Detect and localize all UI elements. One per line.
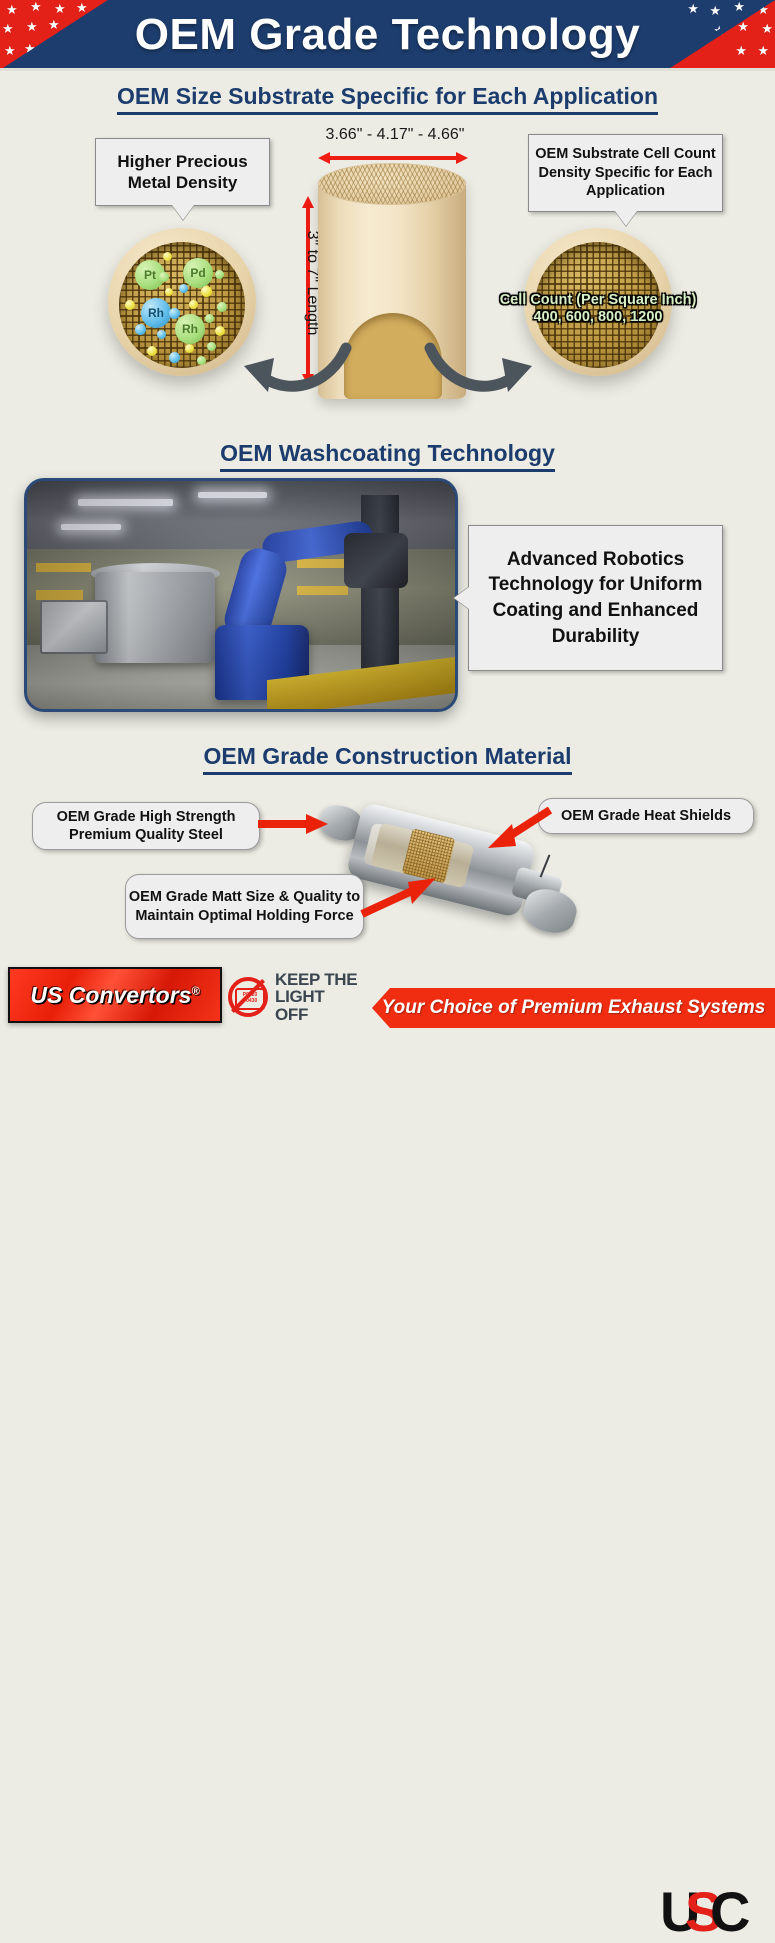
particle-dot bbox=[165, 288, 173, 296]
curved-arrow-right-icon bbox=[418, 338, 540, 404]
particle-dot bbox=[217, 302, 227, 312]
particle-dot bbox=[185, 344, 194, 353]
washcoating-robot-photo bbox=[24, 478, 458, 712]
callout-tail-icon bbox=[172, 205, 194, 220]
particle-dot bbox=[169, 352, 180, 363]
callout-text: Advanced Robotics Technology for Uniform… bbox=[469, 547, 722, 650]
cell-count-overlay: Cell Count (Per Square Inch) 400, 600, 8… bbox=[490, 292, 706, 325]
callout-matt-size-quality: OEM Grade Matt Size & Quality to Maintai… bbox=[125, 874, 364, 939]
particle-dot bbox=[201, 286, 212, 297]
usc-monogram-logo[interactable]: U S C bbox=[660, 1887, 760, 1941]
registered-mark: ® bbox=[191, 985, 199, 997]
magnifier-precious-metals: Pt Pd Rh Rh bbox=[108, 228, 256, 376]
particle-dot bbox=[135, 324, 146, 335]
particle-dot bbox=[169, 308, 180, 319]
particle-dot bbox=[163, 252, 172, 261]
dimension-diameter-label: 3.66" - 4.17" - 4.66" bbox=[300, 126, 490, 144]
tagline-text: Your Choice of Premium Exhaust Systems bbox=[382, 997, 766, 1019]
callout-tail-icon bbox=[454, 587, 469, 609]
cell-count-title: Cell Count (Per Square Inch) bbox=[490, 292, 706, 309]
section-title-construction-text: OEM Grade Construction Material bbox=[203, 743, 571, 775]
callout-text: OEM Substrate Cell Count Density Specifi… bbox=[529, 145, 722, 202]
callout-text: Higher Precious Metal Density bbox=[96, 151, 269, 194]
particle-dot bbox=[157, 330, 166, 339]
section-title-construction: OEM Grade Construction Material bbox=[0, 743, 775, 775]
keep-light-line-2: LIGHT OFF bbox=[275, 988, 358, 1023]
particle-dot bbox=[179, 284, 188, 293]
particle-dot bbox=[125, 300, 135, 310]
section-title-washcoating-text: OEM Washcoating Technology bbox=[220, 440, 555, 472]
callout-higher-precious-metal-density: Higher Precious Metal Density bbox=[95, 138, 270, 206]
red-arrow-matt-icon bbox=[360, 878, 438, 918]
callout-cell-count-density: OEM Substrate Cell Count Density Specifi… bbox=[528, 134, 723, 212]
us-convertors-logo[interactable]: US Convertors® bbox=[8, 967, 222, 1023]
keep-light-line-1: KEEP THE bbox=[275, 971, 358, 988]
header-divider bbox=[0, 68, 775, 71]
curved-arrow-left-icon bbox=[238, 338, 358, 404]
particle-dot bbox=[159, 272, 169, 282]
tagline-banner: Your Choice of Premium Exhaust Systems bbox=[372, 988, 775, 1028]
particle-dot bbox=[207, 342, 216, 351]
red-arrow-heat-shields-icon bbox=[486, 806, 554, 850]
metal-sphere-rh-green: Rh bbox=[175, 314, 205, 344]
page-title: OEM Grade Technology bbox=[0, 0, 775, 70]
keep-light-off-text: KEEP THE LIGHT OFF bbox=[275, 971, 358, 1023]
red-arrow-steel-icon bbox=[258, 812, 328, 836]
section-title-substrate: OEM Size Substrate Specific for Each App… bbox=[0, 83, 775, 115]
cylinder-honeycomb-top bbox=[318, 163, 466, 205]
keep-the-light-off-badge: P0420 P0430 KEEP THE LIGHT OFF bbox=[228, 975, 358, 1019]
callout-heat-shields: OEM Grade Heat Shields bbox=[538, 798, 754, 834]
section-title-substrate-text: OEM Size Substrate Specific for Each App… bbox=[117, 83, 658, 115]
particle-dot bbox=[189, 300, 198, 309]
callout-advanced-robotics: Advanced Robotics Technology for Uniform… bbox=[468, 525, 723, 671]
no-check-engine-light-icon: P0420 P0430 bbox=[228, 977, 268, 1017]
header-banner: ★ ★ ★ ★ ★ ★ ★ ★ ★ OEM Grade Technology ★… bbox=[0, 0, 775, 70]
section-title-washcoating: OEM Washcoating Technology bbox=[0, 440, 775, 472]
particle-dot bbox=[197, 356, 206, 365]
metal-sphere-pd: Pd bbox=[183, 258, 213, 288]
particle-dot bbox=[205, 314, 214, 323]
callout-text: OEM Grade Heat Shields bbox=[561, 808, 731, 824]
metal-sphere-rh-blue: Rh bbox=[141, 298, 171, 328]
callout-text: OEM Grade High Strength Premium Quality … bbox=[33, 808, 259, 844]
cell-count-values: 400, 600, 800, 1200 bbox=[490, 309, 706, 326]
monogram-letter-c: C bbox=[710, 1884, 750, 1940]
poster-root: ★ ★ ★ ★ ★ ★ ★ ★ ★ OEM Grade Technology ★… bbox=[0, 0, 775, 1034]
photo-scene bbox=[27, 481, 455, 709]
honeycomb-grid: Pt Pd Rh Rh bbox=[119, 242, 245, 368]
photo-vignette bbox=[27, 481, 455, 709]
callout-high-strength-steel: OEM Grade High Strength Premium Quality … bbox=[32, 802, 260, 850]
particle-dot bbox=[215, 270, 224, 279]
arrow-shaft bbox=[329, 156, 457, 160]
callout-text: OEM Grade Matt Size & Quality to Maintai… bbox=[126, 888, 363, 924]
callout-tail-icon bbox=[615, 211, 637, 226]
brand-name: US Convertors® bbox=[30, 982, 199, 1009]
particle-dot bbox=[147, 346, 157, 356]
particle-dot bbox=[215, 326, 225, 336]
